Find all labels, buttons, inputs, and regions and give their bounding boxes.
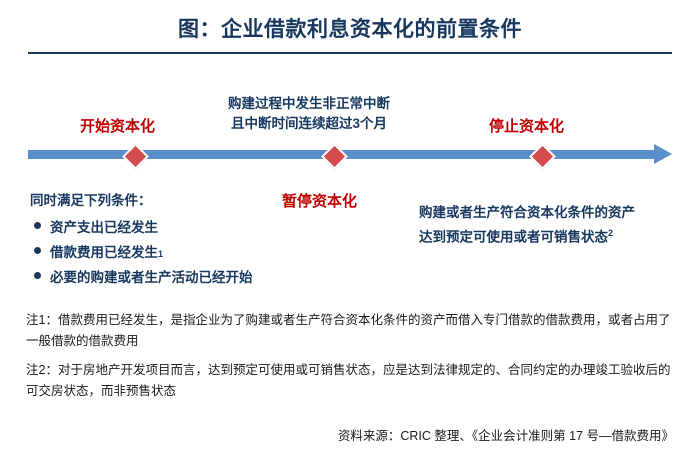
- list-item: 借款费用已经发生 1: [34, 241, 374, 261]
- figure-root: 图：企业借款利息资本化的前置条件 开始资本化 暂停资本化 停止资本化 购建过程中…: [0, 0, 700, 464]
- right-condition-line-1: 购建或者生产符合资本化条件的资产: [419, 203, 635, 223]
- right-condition-footnote-marker: 2: [608, 228, 613, 238]
- timeline-arrow-icon: [654, 144, 672, 164]
- timeline-node-stop: [529, 143, 556, 170]
- source-note: 资料来源：CRIC 整理、《企业会计准则第 17 号—借款费用》: [338, 425, 674, 444]
- timeline-node-start: [122, 143, 149, 170]
- middle-condition-note: 购建过程中发生非正常中断 且中断时间连续超过3个月: [228, 94, 390, 134]
- right-condition-line-2: 达到预定可使用或者可销售状态2: [419, 223, 635, 248]
- left-conditions-heading: 同时满足下列条件：: [30, 191, 152, 211]
- list-item: 资产支出已经发生: [34, 216, 374, 236]
- label-stop-capitalization: 停止资本化: [489, 115, 564, 136]
- right-condition-line-2-text: 达到预定可使用或者可销售状态: [419, 230, 608, 245]
- list-item: 必要的购建或者生产活动已经开始: [34, 266, 374, 286]
- footnote-2: 注2：对于房地产开发项目而言，达到预定可使用或可销售状态，应是达到法律规定的、合…: [26, 360, 674, 402]
- label-start-capitalization: 开始资本化: [80, 115, 155, 136]
- list-item-label: 必要的购建或者生产活动已经开始: [50, 266, 253, 286]
- footnote-1: 注1：借款费用已经发生，是指企业为了购建或者生产符合资本化条件的资产而借入专门借…: [26, 310, 674, 352]
- bullet-dot-icon: [34, 247, 41, 254]
- left-conditions-list: 资产支出已经发生 借款费用已经发生 1 必要的购建或者生产活动已经开始: [34, 216, 374, 291]
- list-item-footnote-marker: 1: [158, 249, 163, 259]
- page-title: 图：企业借款利息资本化的前置条件: [0, 13, 700, 43]
- title-divider: [28, 52, 672, 54]
- footnote-1-text: 借款费用已经发生，是指企业为了购建或者生产符合资本化条件的资产而借入专门借款的借…: [26, 313, 670, 348]
- label-pause-capitalization: 暂停资本化: [282, 190, 357, 211]
- right-condition-note: 购建或者生产符合资本化条件的资产 达到预定可使用或者可销售状态2: [419, 203, 635, 248]
- middle-condition-line-1: 购建过程中发生非正常中断: [228, 94, 390, 114]
- list-item-label: 借款费用已经发生: [50, 241, 158, 261]
- footnote-2-label: 注2：: [26, 363, 58, 377]
- list-item-label: 资产支出已经发生: [50, 216, 158, 236]
- bullet-dot-icon: [34, 222, 41, 229]
- footnote-1-label: 注1：: [26, 313, 58, 327]
- bullet-dot-icon: [34, 272, 41, 279]
- middle-condition-line-2: 且中断时间连续超过3个月: [228, 114, 390, 134]
- timeline-node-pause: [321, 143, 348, 170]
- footnote-2-text: 对于房地产开发项目而言，达到预定可使用或可销售状态，应是达到法律规定的、合同约定…: [26, 363, 670, 398]
